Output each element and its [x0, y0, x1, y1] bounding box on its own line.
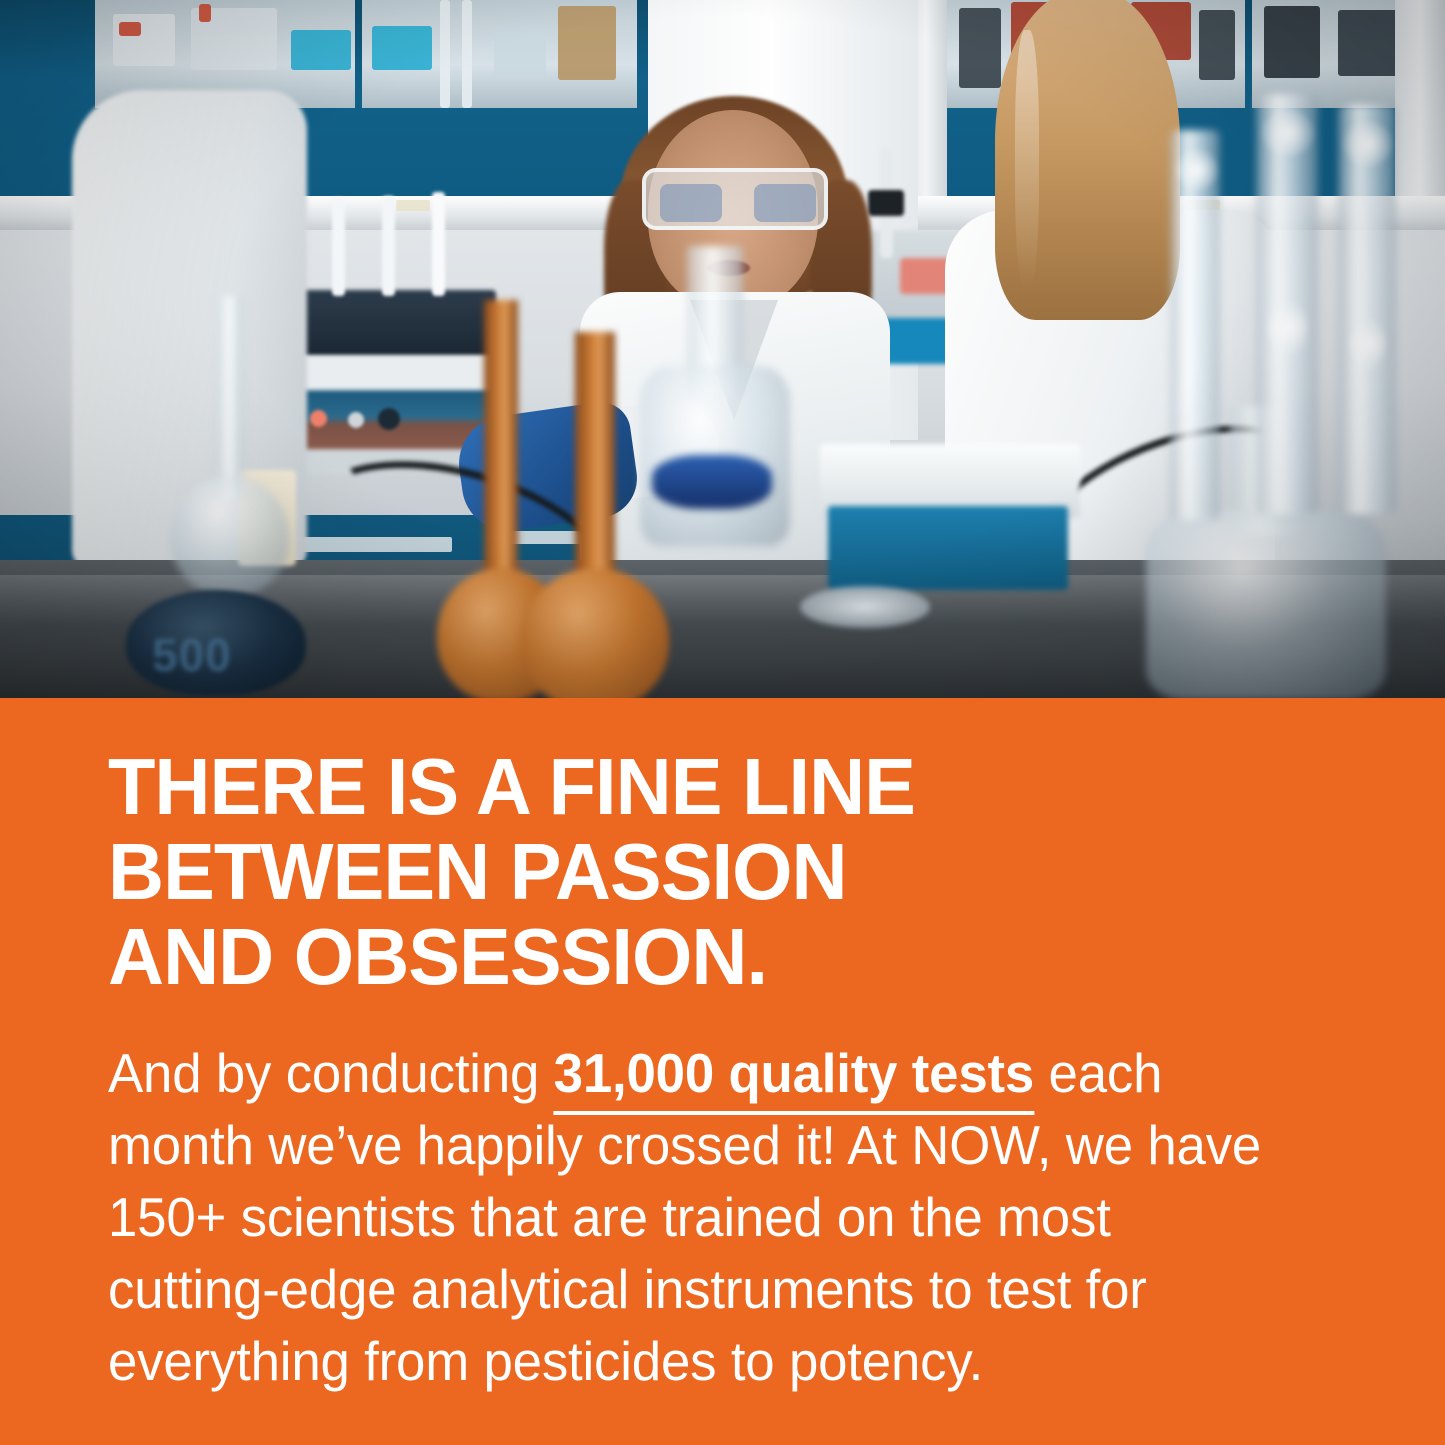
- photo-vignette: [0, 0, 1445, 698]
- lab-photo: 500: [0, 0, 1445, 698]
- quality-tests-highlight: 31,000 quality tests: [554, 1042, 1034, 1115]
- poster: 500 THERE IS: [0, 0, 1445, 1445]
- body-paragraph: And by conducting 31,000 quality tests e…: [108, 1037, 1274, 1397]
- page-title: THERE IS A FINE LINE BETWEEN PASSION AND…: [108, 744, 1311, 999]
- body-text-before: And by conducting: [108, 1042, 554, 1104]
- orange-text-panel: THERE IS A FINE LINE BETWEEN PASSION AND…: [0, 698, 1445, 1445]
